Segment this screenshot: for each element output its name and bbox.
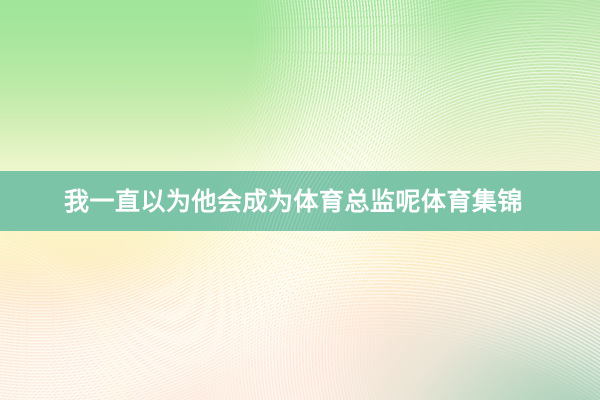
bottom-right-green-accent	[320, 240, 600, 400]
decorative-banner: 我一直以为他会成为体育总监呢体育集锦	[0, 0, 600, 400]
caption-band: 我一直以为他会成为体育总监呢体育集锦	[0, 171, 600, 231]
caption-text: 我一直以为他会成为体育总监呢体育集锦	[64, 189, 523, 214]
